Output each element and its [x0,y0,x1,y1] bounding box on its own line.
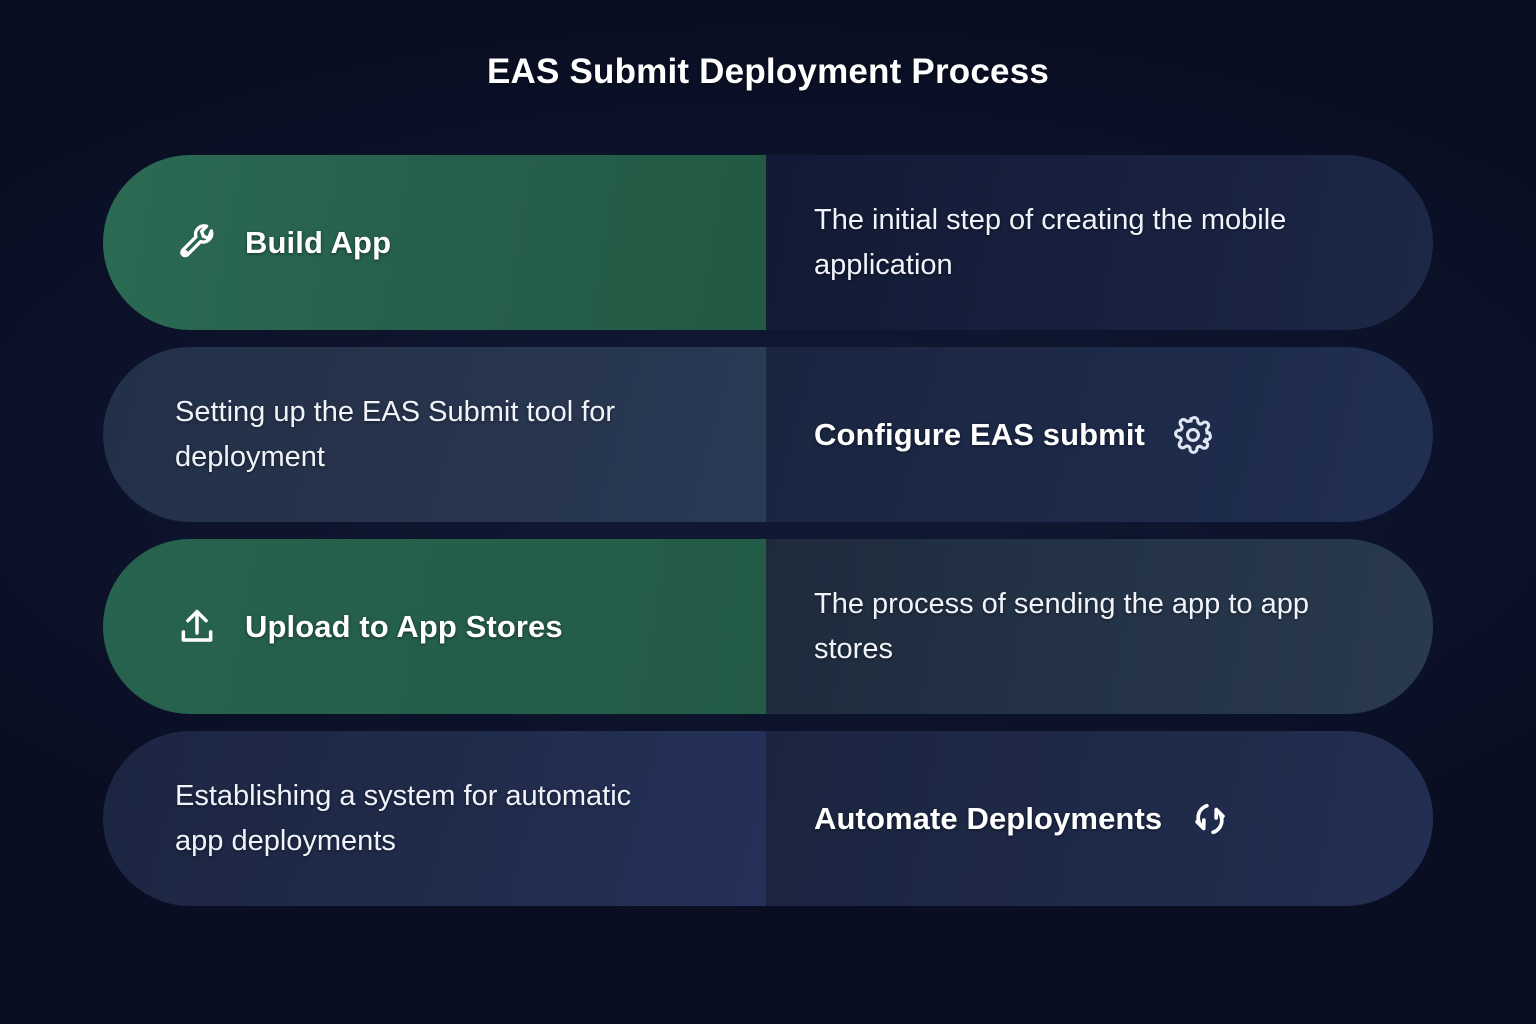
process-step-row[interactable]: Build App The initial step of creating t… [103,155,1433,330]
process-steps-list: Build App The initial step of creating t… [103,155,1433,923]
step-label-panel[interactable]: Upload to App Stores [103,539,766,714]
step-description-panel[interactable]: The initial step of creating the mobile … [766,155,1433,330]
step-label-group: Build App [103,221,391,265]
step-label-panel[interactable]: Configure EAS submit [766,347,1433,522]
step-description-text: The initial step of creating the mobile … [766,198,1326,286]
step-label-text: Upload to App Stores [245,609,563,645]
step-description-text: Setting up the EAS Submit tool for deplo… [103,390,663,478]
step-description-panel[interactable]: Establishing a system for automatic app … [103,731,766,906]
process-step-row[interactable]: Setting up the EAS Submit tool for deplo… [103,347,1433,522]
process-step-row[interactable]: Establishing a system for automatic app … [103,731,1433,906]
step-description-text: The process of sending the app to app st… [766,582,1326,670]
upload-icon [175,605,219,649]
step-label-panel[interactable]: Build App [103,155,766,330]
step-label-panel[interactable]: Automate Deployments [766,731,1433,906]
wrench-icon [175,221,219,265]
sync-icon [1188,797,1232,841]
diagram-canvas: EAS Submit Deployment Process Build App … [0,0,1536,1024]
process-step-row[interactable]: Upload to App Stores The process of send… [103,539,1433,714]
gear-icon [1171,413,1215,457]
step-label-group: Configure EAS submit [766,413,1215,457]
step-description-panel[interactable]: The process of sending the app to app st… [766,539,1433,714]
step-description-panel[interactable]: Setting up the EAS Submit tool for deplo… [103,347,766,522]
page-title: EAS Submit Deployment Process [0,52,1536,92]
step-label-text: Configure EAS submit [814,417,1145,453]
step-label-group: Upload to App Stores [103,605,563,649]
step-description-text: Establishing a system for automatic app … [103,774,663,862]
step-label-text: Build App [245,225,391,261]
step-label-text: Automate Deployments [814,801,1162,837]
step-label-group: Automate Deployments [766,797,1232,841]
